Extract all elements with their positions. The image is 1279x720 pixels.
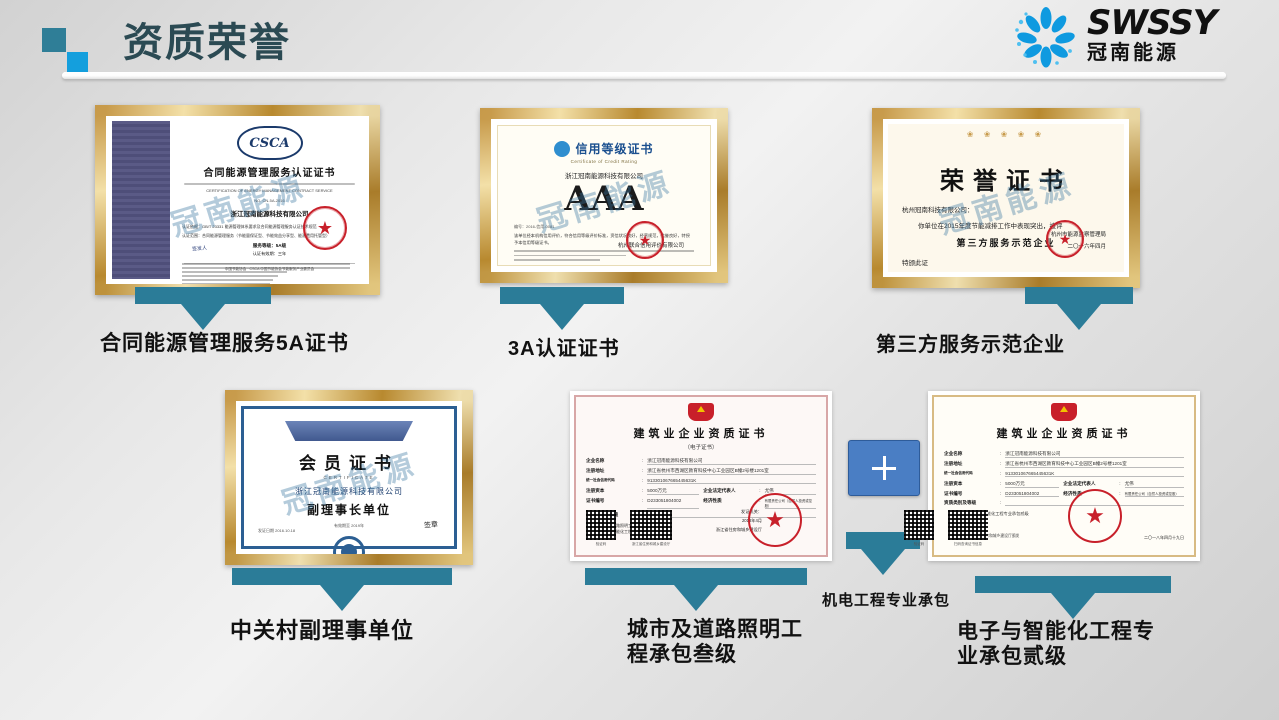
certificate-card-construction-qual-mechanical[interactable]: 建筑业企业资质证书 企业名称:浙江冠南能源科技有限公司 注册地址:浙江省杭州市西… — [928, 391, 1200, 561]
decoration-square-light — [67, 52, 88, 73]
certificate-title: 合同能源管理服务认证证书 — [178, 164, 361, 179]
field-value: 913301067665445631K — [1005, 471, 1184, 477]
title-decoration-squares — [42, 28, 98, 72]
field-label: 资质类别及等级 — [944, 500, 996, 506]
certificate-image: ❀ ❀ ❀ ❀ ❀ 荣誉证书 杭州冠南科技有限公司： 你单位在2015年度节能减… — [883, 119, 1129, 277]
certificate-title: 建筑业企业资质证书 — [934, 425, 1194, 441]
certificate-title: 荣誉证书 — [888, 161, 1124, 196]
decoration-square-dark — [42, 28, 66, 52]
certificate-title-en: Certificate of Credit Rating — [498, 159, 710, 164]
title-divider-rule — [62, 72, 1226, 79]
field-value: D233051804002 — [1005, 491, 1059, 497]
pointer-arrow-6 — [975, 576, 1171, 619]
certificate-image: 信用等级证书 Certificate of Credit Rating 浙江冠南… — [491, 119, 717, 272]
field-label: 证书编号 — [944, 491, 996, 497]
page-title: 资质荣誉 — [123, 18, 291, 68]
certificate-body: 你单位在2015年度节能减排工作中表现突出，被评 — [918, 220, 1124, 230]
add-plus-button[interactable] — [848, 440, 920, 496]
pointer-arrow-3 — [1025, 287, 1133, 330]
certificate-caption-1: 合同能源管理服务5A证书 — [100, 332, 430, 357]
plus-icon-vertical — [883, 456, 886, 480]
certificate-card-zhongguancun-member[interactable]: 会员证书 CERTIFICATE 浙江冠南能源科技有限公司 副理事长单位 有效期… — [225, 390, 473, 565]
qr-code-icon — [586, 510, 616, 540]
ribbon-banner — [285, 421, 413, 441]
barcode-icon — [948, 510, 988, 540]
field-label: 统一社会信用代码 — [586, 478, 638, 484]
certificate-caption-5: 城市及道路照明工 程承包叁级 — [627, 618, 857, 668]
credit-badge-icon — [554, 141, 570, 157]
red-seal-stamp: ★ — [1046, 220, 1084, 258]
field-value: 浙江冠南能源科技有限公司 — [1005, 451, 1184, 458]
qr-code-row: 验证码 扫码查询证书信息 — [904, 510, 988, 547]
field-label: 证书编号 — [586, 498, 638, 509]
certificate-card-contract-energy-5a[interactable]: CSCA 合同能源管理服务认证证书 CERTIFICATION OF ENERG… — [95, 105, 380, 295]
field-label-right: 企业法定代表人 — [1063, 481, 1115, 488]
water-droplet-flower-icon — [1013, 6, 1079, 68]
field-value: 5000万元 — [647, 488, 699, 495]
brand-subtitle: 冠南能源 — [1087, 43, 1216, 63]
qr-code-row: 验证码 浙江省住房和城乡建设厅 — [586, 510, 672, 547]
certificate-caption-2: 3A认证证书 — [508, 338, 768, 362]
certificate-company: 浙江冠南能源科技有限公司 — [248, 486, 450, 497]
pointer-arrow-5 — [585, 568, 807, 611]
field-value: 浙江冠南能源科技有限公司 — [647, 458, 816, 465]
certificate-subtitle: CERTIFICATION OF ENERGY MANAGEMENT CONTR… — [178, 188, 361, 193]
certificate-image: CSCA 合同能源管理服务认证证书 CERTIFICATION OF ENERG… — [106, 116, 369, 284]
red-seal-stamp: ★ — [1068, 489, 1122, 543]
barcode-icon — [630, 510, 672, 540]
certificate-subtitle: （电子证书） — [576, 443, 826, 451]
certificate-image: 建筑业企业资质证书 （电子证书） 企业名称:浙江冠南能源科技有限公司 注册地址:… — [574, 395, 828, 557]
qr-code-icon — [904, 510, 934, 540]
field-value: 913301067665445631K — [647, 478, 816, 484]
certificate-image: 建筑业企业资质证书 企业名称:浙江冠南能源科技有限公司 注册地址:浙江省杭州市西… — [932, 395, 1196, 557]
field-label-right: 企业法定代表人 — [703, 488, 755, 495]
field-label: 注册资本 — [586, 488, 638, 495]
certificate-caption-4: 中关村副理事单位 — [230, 618, 530, 644]
pointer-arrow-4 — [232, 568, 452, 611]
field-label: 企业名称 — [586, 458, 638, 465]
field-label: 注册资本 — [944, 481, 996, 488]
certificate-card-third-party-service[interactable]: ❀ ❀ ❀ ❀ ❀ 荣誉证书 杭州冠南科技有限公司： 你单位在2015年度节能减… — [872, 108, 1140, 288]
certificate-card-aaa-credit[interactable]: 信用等级证书 Certificate of Credit Rating 浙江冠南… — [480, 108, 728, 283]
field-label: 注册地址 — [586, 468, 638, 475]
certificate-card-construction-qual-electronic[interactable]: 建筑业企业资质证书 （电子证书） 企业名称:浙江冠南能源科技有限公司 注册地址:… — [570, 391, 832, 561]
field-value-right: 有限责任公司（自然人投资或控股） — [1125, 491, 1184, 497]
field-label: 注册地址 — [944, 461, 996, 468]
slide-canvas: 资质荣誉 SWSSY 冠南能源 — [0, 0, 1279, 720]
brand-logo: SWSSY 冠南能源 — [1013, 4, 1265, 70]
certificate-side-band — [112, 121, 170, 279]
certificate-caption-6: 电子与智能化工程专 业承包贰级 — [957, 620, 1207, 670]
field-label: 统一社会信用代码 — [944, 471, 996, 477]
csca-logo: CSCA — [237, 126, 303, 160]
brand-name: SWSSY — [1087, 6, 1216, 40]
pointer-arrow-1 — [135, 287, 271, 330]
certificate-title: 会员证书 — [248, 449, 450, 474]
certificate-note: 特颁此证 — [902, 257, 1124, 267]
certificate-caption-3: 第三方服务示范企业 — [876, 334, 1176, 358]
certificate-role: 副理事长单位 — [248, 501, 450, 518]
field-label: 企业名称 — [944, 451, 996, 458]
pointer-arrow-2 — [500, 287, 624, 330]
brand-text-block: SWSSY 冠南能源 — [1087, 6, 1216, 63]
red-seal-stamp: ★ — [303, 206, 347, 250]
field-label-right: 经济性质 — [703, 498, 755, 509]
credit-grade: AAA — [498, 182, 710, 216]
certificate-title-en: CERTIFICATE — [248, 475, 450, 480]
certificate-image: 会员证书 CERTIFICATE 浙江冠南能源科技有限公司 副理事长单位 有效期… — [236, 401, 462, 554]
certificate-title: 建筑业企业资质证书 — [576, 425, 826, 441]
field-value: 浙江省杭州市西湖区教育科技中心工业园区B幢2号楼1201室 — [1005, 461, 1184, 468]
certificate-title: 信用等级证书 — [575, 140, 653, 157]
field-value: 浙江省杭州市西湖区教育科技中心工业园区B幢2号楼1201室 — [647, 468, 816, 475]
national-emblem-icon — [688, 403, 714, 421]
red-seal-stamp: ★ — [748, 493, 802, 547]
national-emblem-icon — [1051, 403, 1077, 421]
field-value: 5000万元 — [1005, 481, 1059, 488]
field-value: D233051804002 — [647, 498, 699, 509]
certificate-date: 二〇一八年四月十九日 — [1144, 535, 1184, 541]
member-seal-icon — [333, 536, 365, 554]
certificate-company: 杭州冠南科技有限公司： — [902, 204, 1124, 214]
field-value-right: 尤伟 — [1125, 481, 1184, 488]
certificate-row-4: 认证有效期：三年 — [182, 251, 357, 257]
red-seal-stamp: ★ — [626, 221, 664, 259]
